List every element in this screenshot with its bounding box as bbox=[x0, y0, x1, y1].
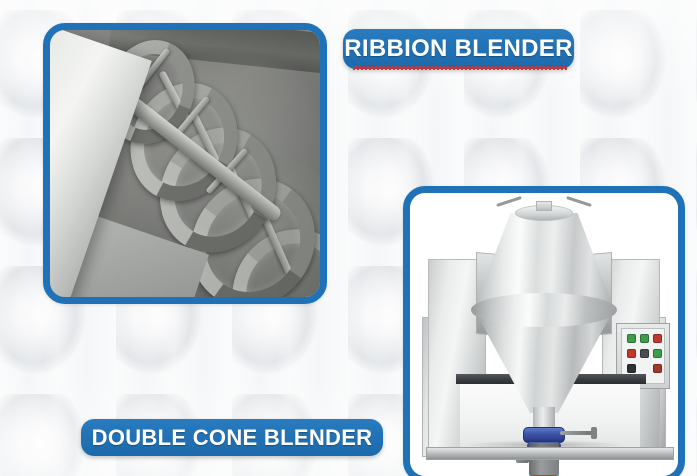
frame-base-rail bbox=[426, 447, 674, 460]
valve-handle-lever[interactable] bbox=[560, 431, 594, 435]
photo-glare-overlay bbox=[50, 30, 320, 297]
control-button-green-2[interactable] bbox=[640, 334, 649, 343]
ribbon-blender-photo-panel[interactable] bbox=[43, 23, 327, 304]
control-button-red-2[interactable] bbox=[627, 349, 636, 358]
double-cone-blender-photo bbox=[410, 193, 678, 476]
double-cone-blender-label-text: DOUBLE CONE BLENDER bbox=[92, 425, 373, 451]
control-button-green-1[interactable] bbox=[627, 334, 636, 343]
discharge-neck bbox=[533, 407, 555, 429]
ribbon-blender-label-text: RIBBION BLENDER bbox=[344, 35, 573, 63]
double-cone-blender-label-badge[interactable]: DOUBLE CONE BLENDER bbox=[81, 419, 383, 456]
double-cone-blender-illustration bbox=[410, 193, 678, 476]
page-canvas: RIBBION BLENDER DOUBLE CONE BLENDER bbox=[0, 0, 697, 476]
control-button-black-1[interactable] bbox=[640, 349, 649, 358]
double-cone-blender-photo-panel[interactable] bbox=[403, 186, 685, 476]
ribbon-blender-label-badge[interactable]: RIBBION BLENDER bbox=[343, 29, 574, 69]
control-button-red-1[interactable] bbox=[653, 334, 662, 343]
ribbon-blender-photo bbox=[50, 30, 320, 297]
control-button-black-2[interactable] bbox=[627, 364, 636, 373]
lid-handle-block bbox=[536, 201, 552, 211]
lid-clamp-right bbox=[566, 196, 592, 207]
control-button-red-3[interactable] bbox=[653, 364, 662, 373]
cone-center-band bbox=[471, 293, 617, 327]
ribbon-blender-illustration bbox=[50, 30, 320, 297]
lid-clamp-left bbox=[496, 196, 522, 207]
spellcheck-squiggle-icon bbox=[353, 66, 567, 70]
control-button-green-3[interactable] bbox=[653, 349, 662, 358]
